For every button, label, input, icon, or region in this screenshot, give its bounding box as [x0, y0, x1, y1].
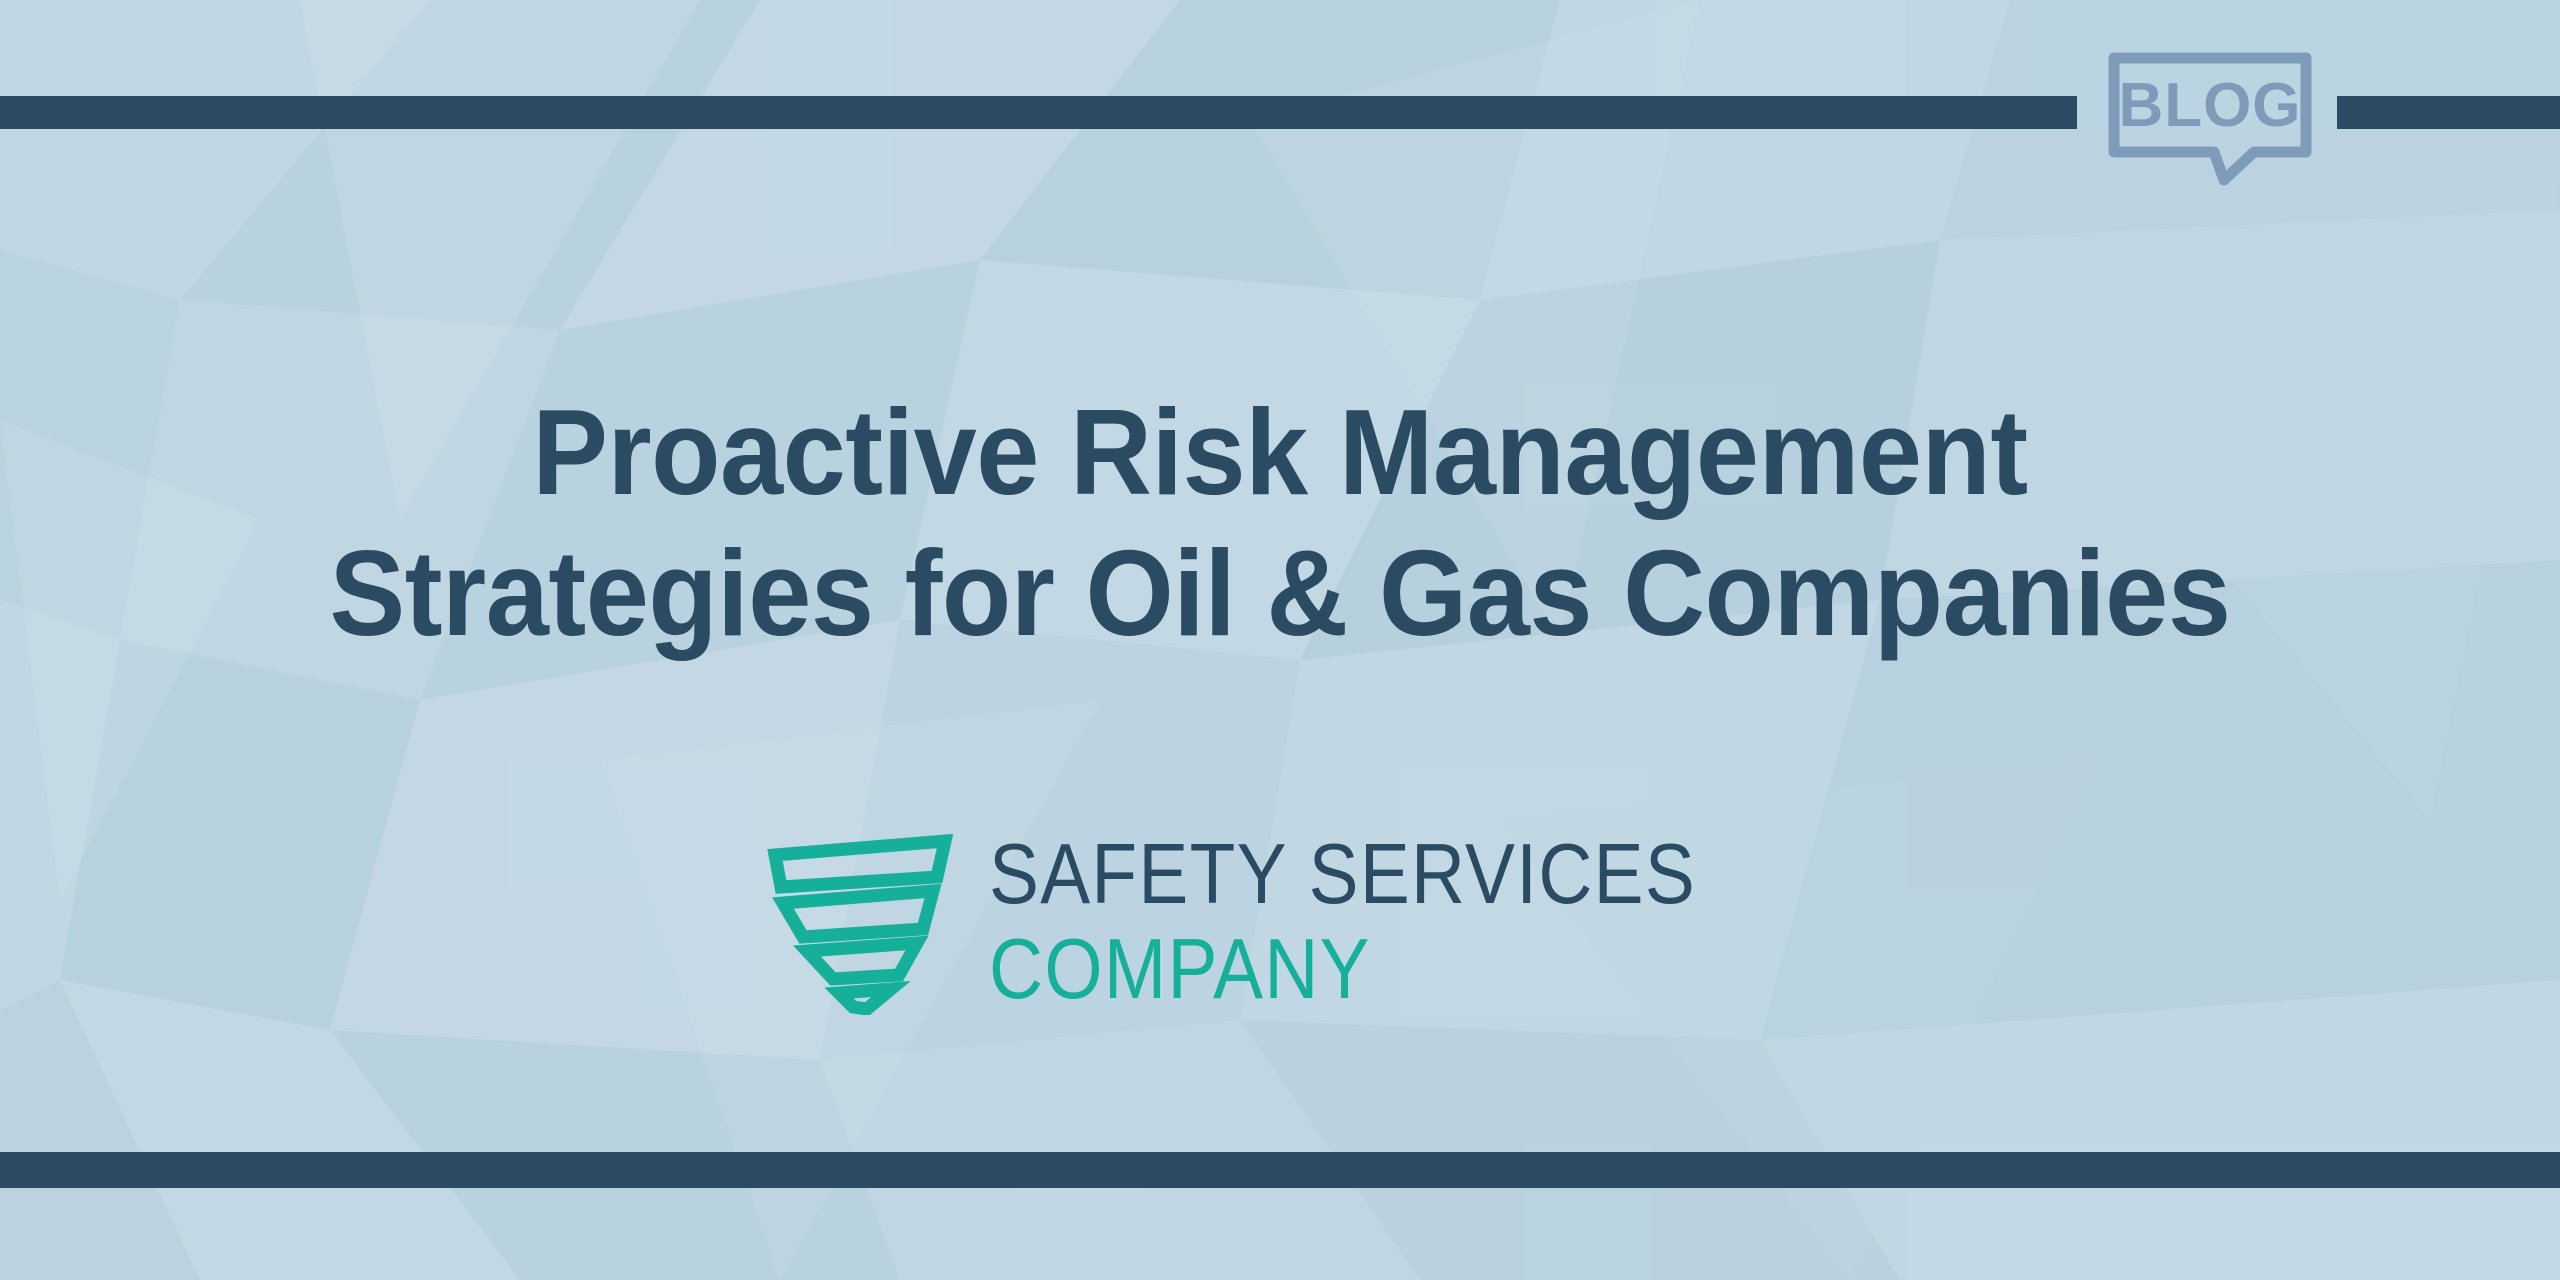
- top-rule-right: [2337, 96, 2560, 129]
- blog-badge-label: BLOG: [2118, 71, 2301, 140]
- headline-line-1: Proactive Risk Management: [90, 382, 2471, 524]
- bottom-rule: [0, 1152, 2560, 1188]
- logo-wordmark-secondary: COMPANY: [989, 927, 1696, 1012]
- brand-logo[interactable]: SAFETY SERVICES COMPANY: [0, 832, 2560, 1016]
- page-title: Proactive Risk Management Strategies for…: [90, 382, 2471, 665]
- logo-wordmark: SAFETY SERVICES COMPANY: [989, 832, 1793, 1016]
- headline-line-2: Strategies for Oil & Gas Companies: [90, 523, 2471, 665]
- blog-badge[interactable]: BLOG: [2104, 48, 2316, 188]
- logo-wordmark-primary: SAFETY SERVICES: [989, 832, 1696, 917]
- top-rule-left: [0, 96, 2077, 129]
- shield-icon: [767, 833, 953, 1015]
- speech-bubble-icon: BLOG: [2104, 48, 2316, 188]
- blog-banner: BLOG Proactive Risk Management Strategie…: [0, 0, 2560, 1280]
